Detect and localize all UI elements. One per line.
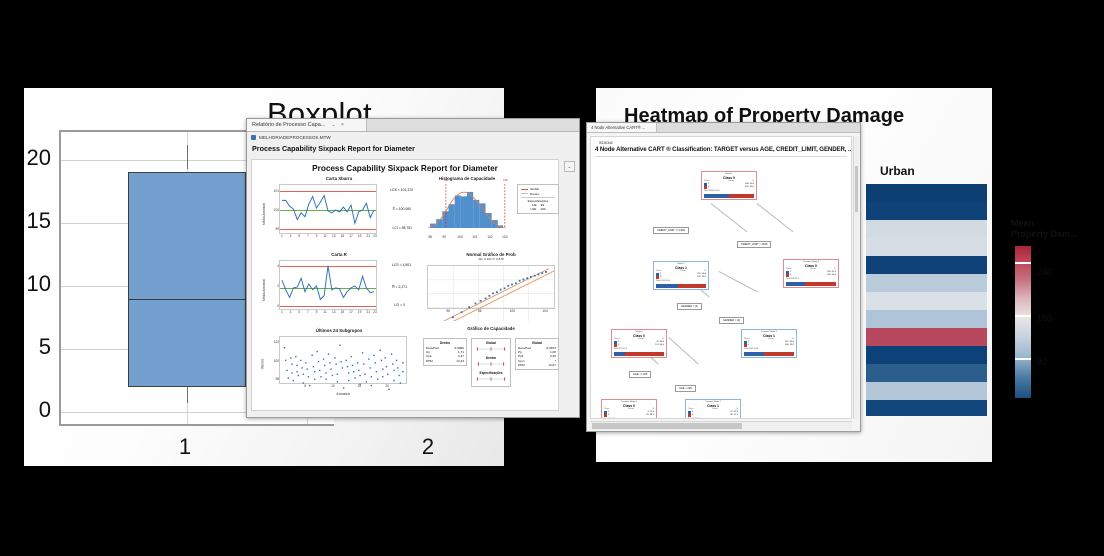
bar-blue [614,352,625,356]
document-name: MELHORIADEPROCESSOS.MTW [259,135,331,140]
row-pct: 39,2 [790,344,794,347]
heatmap-row [866,274,987,292]
bar-red [764,352,794,356]
r-center-label: R̅ = 2,271 [392,285,407,289]
capability-caption: Gráfico de Capacidade [421,326,561,331]
histogram-caption: Histograma de Capacidade [421,176,513,181]
heatmap-row [866,202,987,220]
bar-red [678,284,706,288]
tree-node-terminal-6[interactable]: Terminal Node 6 Class 0 Class Count % 1 … [601,399,657,419]
histogram-bars [423,184,511,228]
row-pct: 62,6 [832,274,836,277]
legend-tick-160: 160 [1037,313,1052,323]
legend-title-line1: Mean [1011,218,1097,229]
r-caption: Carta R [265,252,413,257]
row-count: 96 [730,414,732,417]
tree-edge [719,271,758,292]
stat-value: 13,43 [456,359,464,363]
minitab-document-bar: MELHORIADEPROCESSOS.MTW [247,132,579,143]
heatmap-row [866,310,987,328]
row-class: 0 [708,186,744,189]
ls-y-tick-100: 100 [274,359,279,363]
heatmap-cells [866,184,987,416]
bar-red [625,352,664,356]
xbar-x-tick: 21 [367,234,371,238]
heatmap-row [866,346,987,364]
xbar-x-tick: 17 [349,234,353,238]
r-x-tick: 7 [307,310,309,314]
xbar-x-tick: 13 [332,234,336,238]
slide-canvas: Boxplot 20 15 10 5 0 1 2 Heatmap of Prop… [0,0,1104,556]
r-ucl-label: LCS = 4,801 [392,263,411,267]
ls-x-tick: 20 [385,384,389,388]
tab-controls-icon[interactable]: ⌄ × [331,122,346,128]
cart-subheading: Scoouc [591,137,851,145]
interval-within-label: Dentro [474,356,508,360]
ls-x-tick: 10 [331,384,335,388]
xbar-ucl-label: LCS = 101,370 [390,188,413,192]
legend-within-label: Dentro [530,192,539,197]
node-total: Total 1022 56,8 [744,348,794,351]
tree-node-terminal-5[interactable]: Terminal Node 5 Class 1 Class Count % 1 … [741,329,797,358]
sixpack-report-canvas: Process Capability Sixpack Report for Di… [251,159,559,411]
bar-red [729,194,754,198]
legend-separator [1015,358,1031,360]
node-row: 0 141 64,4 [614,344,664,347]
last-subgroups-points [280,337,406,397]
xbar-series [280,185,376,233]
xbar-x-tick: 15 [341,234,345,238]
xbar-x-tick: 9 [316,234,318,238]
legend-global-swatch [521,189,528,190]
r-x-tick: 17 [349,310,353,314]
legend-separator [1015,315,1031,317]
legend-tick-80: 80 [1037,357,1047,367]
row-pct: 88,2 [650,414,654,417]
last-subgroups-caption: Últimos 24 Subgrupos [265,328,413,333]
np-x-tick: 98 [478,309,482,313]
scrollbar-thumb[interactable] [855,166,858,212]
np-x-tick: 96 [446,309,450,313]
stat-row: PPM 12,07 [518,363,556,367]
xbar-caption: Carta Xbarra [265,176,413,181]
last-subgroups-xlabel: Amostra [279,392,407,396]
capability-histogram: Histograma de Capacidade [421,176,513,250]
spec-key: LSE [530,207,536,211]
report-collapse-button[interactable]: ⌄ [564,161,575,172]
xbar-x-tick: 3 [290,234,292,238]
row-pct: 57,1 [734,414,738,417]
tree-node-4[interactable]: Node 4 Class 0 Class Count % 1 78 35,6 [611,329,667,358]
r-y-tick-4: 4 [277,264,279,268]
global-stats-table: Global DesvPad 0,9873 Pp 1,08 Ppk 0,36 C… [515,338,559,370]
hist-x-tick: 99 [442,235,446,239]
ls-x-tick: 15 [358,384,362,388]
r-x-tick: 15 [341,310,345,314]
r-x-tick: 3 [290,310,292,314]
node-distribution-bar [704,194,754,198]
stat-key: PPM [518,363,525,367]
row-class: 0 [748,344,784,347]
split-gender-2: GENDER = (2) [719,317,744,324]
r-y-tick-2: 2 [277,284,279,288]
heatmap-row [866,382,987,400]
node-total: Total 51 2,8 [604,418,654,419]
legend-title-line2: Property Dam... [1011,229,1097,240]
histogram-lse-mark: LSE [503,179,508,182]
r-x-tick: 13 [332,310,336,314]
r-plot-area: 4 2 0 1 3 5 7 9 11 [279,260,377,310]
xbar-x-tick: 23 [373,234,377,238]
xbar-x-tick: 19 [358,234,362,238]
node-row: 0 541 43,6 [656,276,706,279]
legend-separator [1015,262,1031,264]
class-swatch-red [604,414,607,417]
hist-x-tick: 98 [428,235,432,239]
bar-blue [704,194,729,198]
node-distribution-bar [786,282,836,286]
row-class: 0 [608,414,645,417]
node-row: 0 96 57,1 [688,414,738,417]
interval-spec-label: Especificações [474,371,508,375]
r-x-tick: 9 [316,310,318,314]
heatmap-row [866,238,987,256]
np-x-tick: 100 [510,309,515,313]
cart-tree-canvas: Node 1 Class 0 Class Count % 1 909 50,0 [591,159,851,418]
r-y-tick-0: 0 [277,304,279,308]
heatmap-row [866,400,987,416]
legend-tick-240: 240 [1037,267,1052,277]
normal-prob-series [428,266,554,321]
r-lcl-label: LCI = 0 [394,303,405,307]
ls-y-tick-102: 102 [274,340,279,344]
xbar-chart: Carta Xbarra Média Amostral 101 100 99 1 [265,176,413,250]
heatmap-row [866,256,987,274]
y-tick-5: 5 [1,334,51,360]
report-legend-box: Global Dentro Especificações LIE 99 LS [517,184,559,214]
ls-x-tick: 5 [304,384,306,388]
legend-within-swatch [521,193,528,194]
class-swatch-red [744,344,747,347]
cart-vertical-scrollbar[interactable] [853,136,859,419]
hist-x-tick: 100 [457,235,462,239]
histogram-plot-area: LIE LSE 98 99 100 101 102 103 [423,184,511,234]
cart-tab-strip: 4 Node Alternative CART® ... [587,123,860,133]
tree-node-terminal-3[interactable]: Terminal Node 3 Class 0 Class Count % 1 … [783,259,839,288]
interval-within-marker [474,361,508,367]
split-credit-limit-gt: CREDIT_LIMIT > 1546 [737,241,771,248]
stat-key: PPM [426,359,433,363]
y-tick-20: 20 [1,145,51,171]
within-stats-table: Dentro DesvPad 0,9066 Cp 1,71 Cpk 0,37 P… [423,338,467,366]
r-x-tick: 19 [358,310,362,314]
row-count: 350 [827,274,831,277]
document-title: Process Capability Sixpack Report for Di… [247,143,579,155]
stat-row: PPM 13,43 [426,359,464,363]
tree-node-terminal-7[interactable]: Terminal Node 7 Class 1 Class Count % 1 … [685,399,741,419]
row-class: 0 [692,414,729,417]
interval-global-label: Global [474,341,508,345]
tab-label: Relatório de Processo Capa... [252,122,325,128]
class-swatch-red [656,276,659,279]
r-x-tick: 5 [298,310,300,314]
bar-blue [744,352,764,356]
minitab-tab-strip: Relatório de Processo Capa... ⌄ × [247,119,579,132]
row-class: 0 [790,274,826,277]
node-total: Total 1241 69,0 [656,280,706,283]
node-total: Total 168 9,3 [688,418,738,419]
last-subgroups-chart: Últimos 24 Subgrupos Valores 102 100 98 [265,328,413,404]
normal-probability-chart: Normal Gráfico de Prob AD: 0,201 P: 0,87… [421,252,561,324]
interval-spec-marker [474,376,508,382]
report-title: Process Capability Sixpack Report for Di… [252,160,558,175]
legend-within-line: Dentro [521,192,555,197]
normal-prob-subcaption: AD: 0,201 P: 0,878 [421,257,561,261]
minitab-process-capability-window[interactable]: Relatório de Processo Capa... ⌄ × MELHOR… [246,118,580,418]
row-class: 0 [660,276,696,279]
cart-divider [595,156,847,157]
xbar-ylabel: Média Amostral [262,203,266,225]
split-age-le: AGE <= 225 [629,371,651,378]
row-count: 45 [646,414,648,417]
worksheet-icon [251,135,256,140]
capability-section: Gráfico de Capacidade Dentro DesvPad 0,9… [421,326,561,406]
class-swatch-red [614,344,617,347]
row-count: 141 [655,344,659,347]
cart-heading: 4 Node Alternative CART ® Classification… [591,145,851,153]
node-row: 0 891 50,0 [704,186,754,189]
split-credit-limit-le: CREDIT_LIMIT <= 1546 [653,227,689,234]
split-age-gt: AGE > 225 [675,385,696,392]
y-tick-15: 15 [1,208,51,234]
r-x-tick: 23 [373,310,377,314]
stat-value: 12,07 [548,363,556,367]
tree-node-2[interactable]: Node 2 Class 1 Class Count % 1 700 56,4 [653,261,709,290]
node-row: 0 350 62,6 [786,274,836,277]
node-distribution-bar [744,352,794,356]
boxplot-upper-whisker [187,145,188,169]
split-gender-1: GENDER = (1) [677,303,702,310]
cart-content-area: Scoouc 4 Node Alternative CART ® Classif… [590,136,852,419]
boxplot-x-tick-1: 1 [179,434,191,460]
spec-value: 100 [540,207,545,211]
xbar-plot-area: 101 100 99 1 3 5 7 9 11 [279,184,377,234]
node-total: Total 559 31,0 [786,278,836,281]
legend-colorbar-wrap: 240 160 80 [1011,246,1097,398]
r-series [280,261,376,309]
global-table-title: Global [518,341,556,345]
row-pct: 43,6 [702,276,706,279]
heatmap-row [866,184,987,202]
xbar-x-tick: 11 [323,234,326,238]
capability-intervals: Global Dentro [471,338,511,387]
xbar-x-tick: 1 [281,234,283,238]
tab-cart-classification[interactable]: 4 Node Alternative CART® ... [587,123,657,132]
heatmap-row [866,328,987,346]
xbar-y-tick-100: 100 [274,208,279,212]
last-subgroups-plot-area: 102 100 98 [279,336,407,384]
cart-classification-window[interactable]: 4 Node Alternative CART® ... Scoouc 4 No… [586,122,861,432]
report-chart-grid: Carta Xbarra Média Amostral 101 100 99 1 [255,176,555,407]
within-table-title: Dentro [426,341,464,345]
cart-tab-label: 4 Node Alternative CART® ... [591,125,645,130]
ls-y-tick-98: 98 [275,377,279,381]
xbar-lcl-label: LCI = 98,751 [392,226,412,230]
bar-blue [656,284,678,288]
r-x-tick: 1 [281,310,283,314]
xbar-center-label: X̅ = 100,060 [393,207,411,211]
last-subgroups-ylabel: Valores [260,359,264,370]
row-count: 891 [745,186,749,189]
class-swatch-red [786,274,789,277]
row-count: 541 [697,276,701,279]
heatmap-row [866,220,987,238]
boxplot-median-line [128,299,246,300]
tree-edge [711,203,748,232]
r-chart: Carta R Média Amostral 4 2 0 1 3 [265,252,413,326]
class-swatch-red [704,186,707,189]
r-ylabel: Média Amostral [262,279,266,301]
xbar-x-tick: 5 [298,234,300,238]
tree-node-root[interactable]: Node 1 Class 0 Class Count % 1 909 50,0 [701,171,757,200]
tree-edge [669,337,699,364]
row-class: 0 [618,344,654,347]
node-row: 0 45 88,2 [604,414,654,417]
node-total: Total 1800 100,0 [704,190,754,193]
node-row: 0 400 39,2 [744,344,794,347]
node-total: Total 219 12,2 [614,348,664,351]
row-count: 400 [785,344,789,347]
y-tick-10: 10 [1,271,51,297]
heatmap-row [866,292,987,310]
interval-global-marker [474,346,508,352]
normal-prob-plot-area: 96 98 100 104 [427,265,555,309]
class-swatch-red [688,414,691,417]
bar-red [805,282,837,286]
hist-x-tick: 102 [487,235,492,239]
xbar-y-tick-101: 101 [274,189,279,193]
histogram-lie-mark: LIE [444,179,448,182]
spec-row: LSE 100 [521,207,555,211]
heatmap-column-header-urban: Urban [880,164,915,178]
row-pct: 64,4 [660,344,664,347]
boxplot-y-axis: 20 15 10 5 0 [0,130,57,426]
xbar-x-tick: 7 [307,234,309,238]
legend-colorbar [1015,246,1031,398]
boxplot-box [128,172,246,387]
y-tick-0: 0 [1,397,51,423]
node-distribution-bar [614,352,664,356]
heatmap-legend: Mean Property Dam... 240 160 80 [1011,218,1097,398]
boxplot-x-tick-2: 2 [422,434,434,460]
bar-blue [786,282,805,286]
row-pct: 50,0 [750,186,754,189]
cart-horizontal-scrollbar[interactable] [590,421,852,430]
tab-relatorio-processo-capa[interactable]: Relatório de Processo Capa... ⌄ × [247,119,367,131]
hist-x-tick: 103 [502,235,507,239]
np-x-tick: 104 [543,309,548,313]
r-x-tick: 11 [323,310,326,314]
tree-edge [757,203,794,232]
scrollbar-thumb[interactable] [592,423,742,429]
node-distribution-bar [656,284,706,288]
hist-x-tick: 101 [472,235,477,239]
xbar-y-tick-99: 99 [275,227,279,231]
heatmap-row [866,364,987,382]
r-x-tick: 21 [367,310,371,314]
legend-spec-table: Especificações LIE 99 LSE 100 [521,197,555,211]
